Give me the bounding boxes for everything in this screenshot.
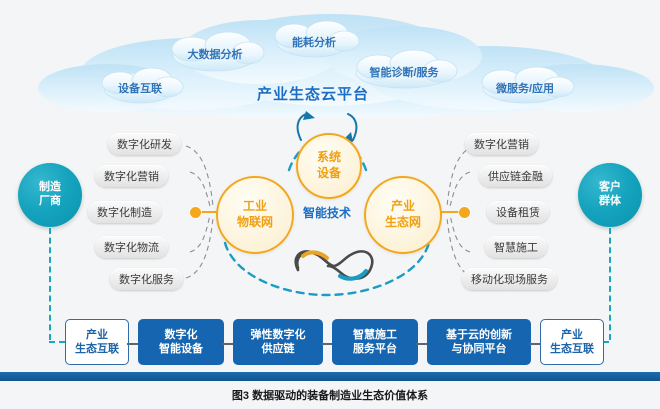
left-item-3[interactable]: 数字化物流: [95, 236, 168, 258]
left-item-4[interactable]: 数字化服务: [110, 268, 183, 290]
hub-manufacturer-line2: 厂商: [39, 195, 61, 209]
circle-system-line2: 设备: [317, 166, 341, 182]
hub-customer[interactable]: 客户 群体: [578, 163, 642, 227]
right-item-3[interactable]: 智慧施工: [485, 236, 547, 258]
circle-system-equipment[interactable]: 系统 设备: [296, 133, 362, 199]
hub-customer-line1: 客户: [599, 181, 621, 195]
bottom-box-3-line1: 智慧施工: [353, 328, 397, 342]
bottom-connector-3: [416, 343, 427, 345]
bottom-box-2-line2: 供应链: [262, 342, 295, 356]
right-item-0[interactable]: 数字化营销: [465, 133, 538, 155]
bottom-connector-1: [222, 343, 233, 345]
platform-title: 产业生态云平台: [228, 83, 398, 104]
bottom-box-1-line2: 智能设备: [159, 342, 203, 356]
hub-manufacturer[interactable]: 制造 厂商: [18, 163, 82, 227]
bottom-box-4[interactable]: 基于云的创新 与协同平台: [427, 319, 531, 365]
cloud-platform-region: 设备互联 大数据分析 能耗分析 智能诊断/服务 微服务/应用 产业生态云平台: [0, 0, 660, 120]
bottom-connector-0: [127, 343, 138, 345]
circle-industrial-iot[interactable]: 工业 物联网: [216, 176, 294, 254]
figure-caption: 图3 数据驱动的装备制造业生态价值体系: [0, 387, 660, 403]
bottom-box-3-line2: 服务平台: [353, 342, 397, 356]
cloud-bubble-2: 能耗分析: [277, 33, 351, 51]
bottom-box-0-line1: 产业: [86, 328, 108, 342]
footer-blue-bar: [0, 372, 660, 381]
bottom-box-1[interactable]: 数字化 智能设备: [138, 319, 224, 365]
circle-eco-line2: 生态网: [385, 215, 421, 231]
cloud-shape: [0, 0, 660, 125]
connector-left-vertical: [49, 228, 51, 340]
right-hub-dot: [459, 207, 470, 218]
bottom-box-5[interactable]: 产业 生态互联: [540, 319, 604, 365]
right-item-2[interactable]: 设备租赁: [487, 201, 549, 223]
circle-industry-ecology-net[interactable]: 产业 生态网: [364, 176, 442, 254]
circle-iiot-line2: 物联网: [237, 215, 273, 231]
left-item-0[interactable]: 数字化研发: [108, 133, 181, 155]
cloud-bubble-1: 大数据分析: [172, 45, 258, 63]
bottom-box-1-line1: 数字化: [165, 328, 198, 342]
right-item-4[interactable]: 移动化现场服务: [462, 268, 557, 290]
circle-iiot-line1: 工业: [243, 199, 267, 215]
bottom-box-3[interactable]: 智慧施工 服务平台: [332, 319, 418, 365]
connector-left-elbow: [49, 341, 65, 343]
cloud-bubble-4: 微服务/应用: [480, 79, 570, 97]
hub-manufacturer-line1: 制造: [39, 181, 61, 195]
connector-right-vertical: [609, 228, 611, 340]
bottom-box-4-line2: 与协同平台: [452, 342, 507, 356]
circle-system-line1: 系统: [317, 150, 341, 166]
bottom-box-0[interactable]: 产业 生态互联: [65, 319, 129, 365]
cloud-bubble-3: 智能诊断/服务: [356, 63, 452, 81]
figure-canvas: 设备互联 大数据分析 能耗分析 智能诊断/服务 微服务/应用 产业生态云平台 制…: [0, 0, 660, 409]
cloud-bubble-0: 设备互联: [104, 79, 176, 97]
left-item-1[interactable]: 数字化营销: [95, 165, 168, 187]
bottom-box-4-line1: 基于云的创新: [446, 328, 512, 342]
bottom-box-5-line2: 生态互联: [550, 342, 594, 356]
hub-customer-line2: 群体: [599, 195, 621, 209]
bottom-connector-4: [529, 343, 540, 345]
center-core-label: 智能技术: [290, 204, 364, 221]
right-item-1[interactable]: 供应链金融: [479, 165, 552, 187]
bottom-box-2[interactable]: 弹性数字化 供应链: [233, 319, 323, 365]
left-hub-dot: [190, 207, 201, 218]
bottom-box-5-line1: 产业: [561, 328, 583, 342]
bottom-box-2-line1: 弹性数字化: [251, 328, 306, 342]
bottom-connector-2: [321, 343, 332, 345]
left-item-2[interactable]: 数字化制造: [88, 201, 161, 223]
bottom-box-0-line2: 生态互联: [75, 342, 119, 356]
circle-eco-line1: 产业: [391, 199, 415, 215]
